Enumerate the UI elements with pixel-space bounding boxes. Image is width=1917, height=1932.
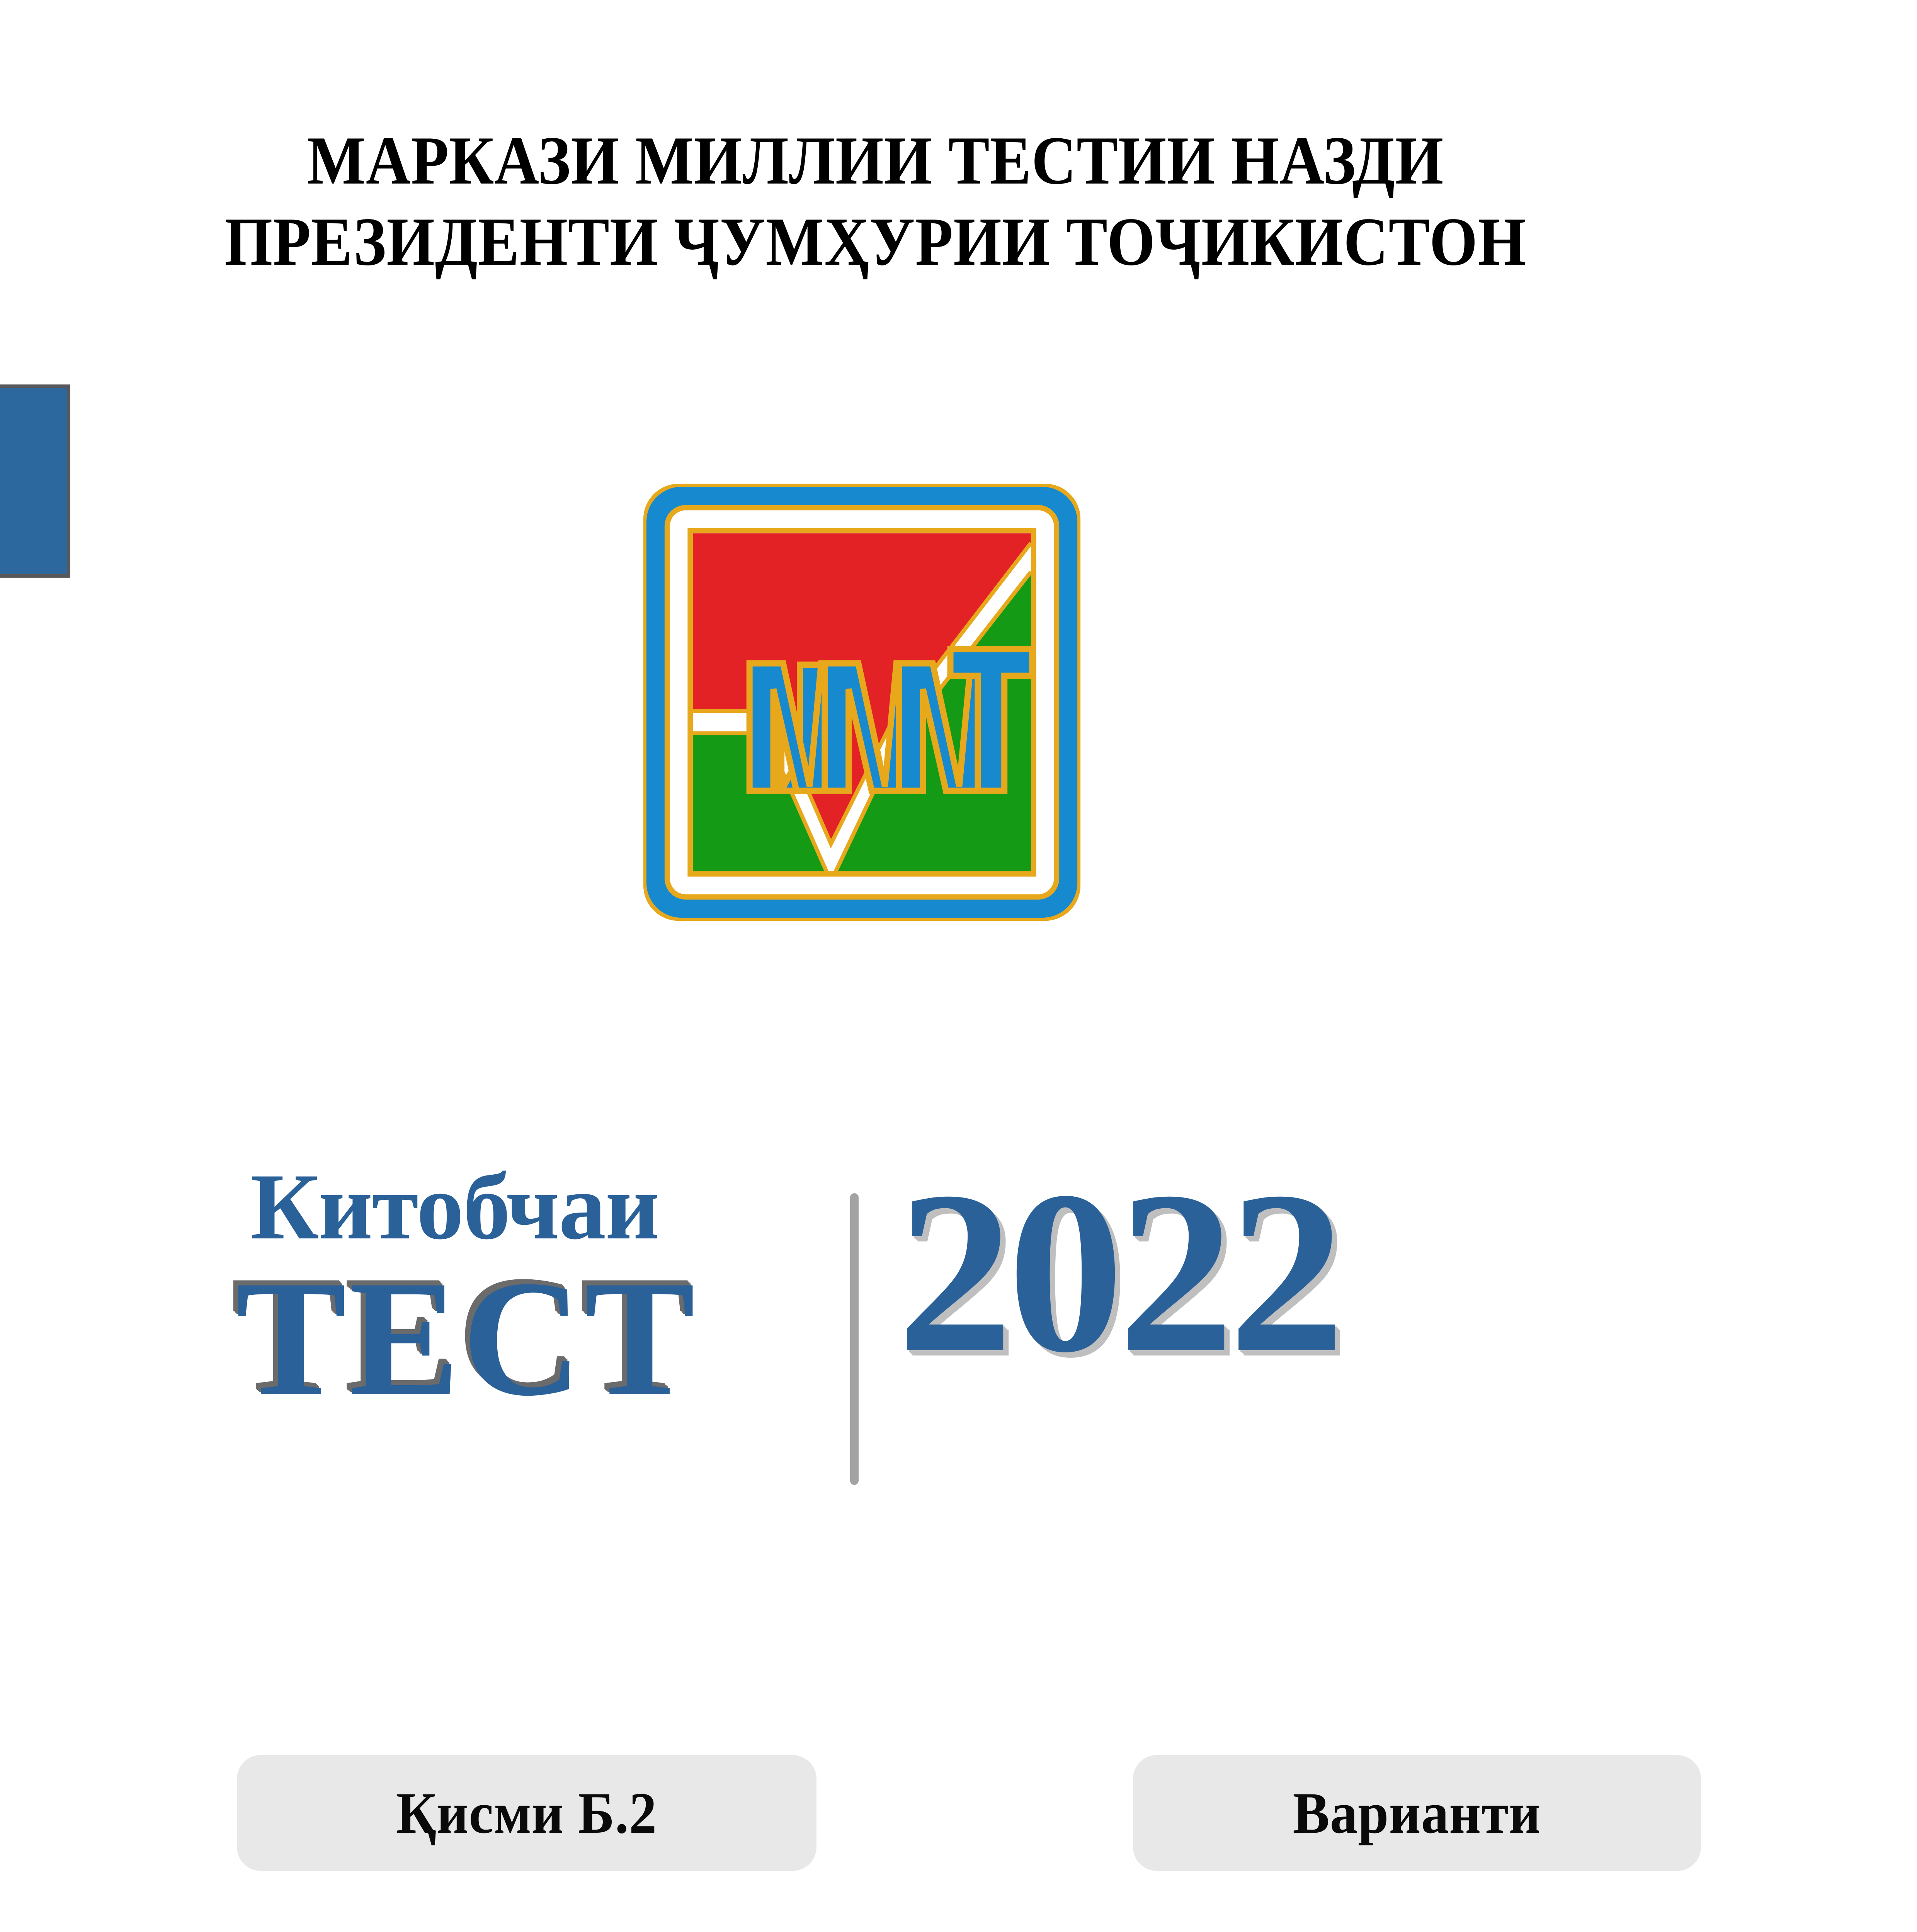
title-test: ТЕСТ bbox=[236, 1262, 697, 1415]
title-block: Китобчаи ТЕСТ 2022 bbox=[236, 1159, 1743, 1507]
variant-number: 3 bbox=[1133, 1924, 1701, 1932]
title-divider bbox=[850, 1193, 859, 1485]
logo-container bbox=[0, 481, 1917, 923]
title-left-group: Китобчаи ТЕСТ bbox=[236, 1159, 839, 1415]
organization-header: МАРКАЗИ МИЛЛИИ ТЕСТИИ НАЗДИ ПРЕЗИДЕНТИ Ҷ… bbox=[0, 120, 1917, 282]
part-label-pill: Қисми Б.2 bbox=[237, 1755, 816, 1871]
variant-label-text: Варианти bbox=[1293, 1779, 1541, 1847]
header-line-2: ПРЕЗИДЕНТИ ҶУМҲУРИИ ТОҶИКИСТОН bbox=[88, 201, 1664, 282]
header-line-1: МАРКАЗИ МИЛЛИИ ТЕСТИИ НАЗДИ bbox=[88, 120, 1664, 201]
document-cover-page: МАРКАЗИ МИЛЛИИ ТЕСТИИ НАЗДИ ПРЕЗИДЕНТИ Ҷ… bbox=[0, 0, 1917, 1932]
variant-label-pill: Варианти bbox=[1133, 1755, 1701, 1871]
part-label-text: Қисми Б.2 bbox=[396, 1779, 657, 1847]
mmt-emblem-icon bbox=[641, 481, 1083, 923]
title-kitobchai: Китобчаи bbox=[250, 1159, 659, 1254]
title-year: 2022 bbox=[897, 1170, 1339, 1374]
